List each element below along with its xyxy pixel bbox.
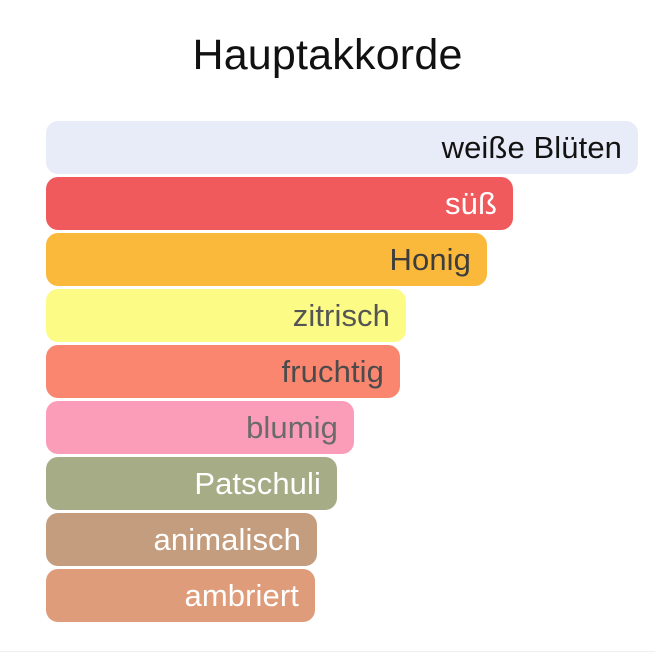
accord-bar[interactable]: zitrisch bbox=[46, 289, 406, 342]
accord-bar-label: weiße Blüten bbox=[442, 132, 638, 163]
accord-bar-label: Honig bbox=[390, 244, 488, 275]
accord-bar-label: fruchtig bbox=[282, 356, 400, 387]
accord-bar[interactable]: fruchtig bbox=[46, 345, 400, 398]
page-title: Hauptakkorde bbox=[0, 32, 655, 79]
accord-bar-row[interactable]: fruchtig bbox=[46, 345, 646, 398]
accord-bar[interactable]: animalisch bbox=[46, 513, 317, 566]
accord-bar[interactable]: Honig bbox=[46, 233, 487, 286]
accord-bar-row[interactable]: blumig bbox=[46, 401, 646, 454]
accord-bar-row[interactable]: ambriert bbox=[46, 569, 646, 622]
accord-bar-row[interactable]: Patschuli bbox=[46, 457, 646, 510]
accord-bar[interactable]: ambriert bbox=[46, 569, 315, 622]
accord-bar[interactable]: süß bbox=[46, 177, 513, 230]
accord-bar-label: ambriert bbox=[185, 580, 316, 611]
accord-bar-label: animalisch bbox=[154, 524, 317, 555]
accord-bar[interactable]: blumig bbox=[46, 401, 354, 454]
accord-bar[interactable]: weiße Blüten bbox=[46, 121, 638, 174]
hauptakkorde-chart-card: Hauptakkorde weiße BlütensüßHonigzitrisc… bbox=[0, 0, 655, 652]
accord-bar-row[interactable]: zitrisch bbox=[46, 289, 646, 342]
accord-bar-label: Patschuli bbox=[194, 468, 337, 499]
accord-bar[interactable]: Patschuli bbox=[46, 457, 337, 510]
accord-bar-row[interactable]: süß bbox=[46, 177, 646, 230]
accord-bar-list: weiße BlütensüßHonigzitrischfruchtigblum… bbox=[46, 121, 646, 631]
accord-bar-label: blumig bbox=[246, 412, 354, 443]
accord-bar-label: süß bbox=[445, 188, 513, 219]
accord-bar-row[interactable]: animalisch bbox=[46, 513, 646, 566]
accord-bar-row[interactable]: Honig bbox=[46, 233, 646, 286]
accord-bar-row[interactable]: weiße Blüten bbox=[46, 121, 646, 174]
accord-bar-label: zitrisch bbox=[293, 300, 406, 331]
